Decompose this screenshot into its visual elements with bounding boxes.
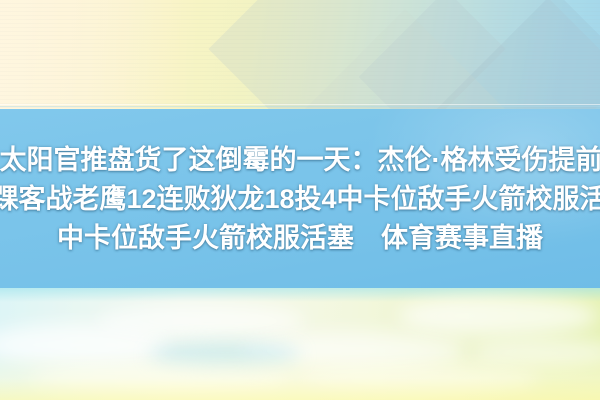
cloud-shape bbox=[96, 304, 306, 338]
hairline-divider bbox=[0, 106, 600, 107]
scanline-texture bbox=[0, 0, 600, 109]
sky-top-tint bbox=[0, 288, 600, 302]
caption-band: 太阳官推盘货了这倒霉的一天：杰伦·格林受伤提前 踝客战老鹰12连败狄龙18投4中… bbox=[0, 109, 600, 288]
sky-bottom-tint bbox=[0, 352, 600, 400]
hairline-divider bbox=[0, 104, 600, 105]
top-gradient-band bbox=[0, 0, 600, 109]
caption-text-block: 太阳官推盘货了这倒霉的一天：杰伦·格林受伤提前 踝客战老鹰12连败狄龙18投4中… bbox=[0, 109, 600, 288]
banner-image: 太阳官推盘货了这倒霉的一天：杰伦·格林受伤提前 踝客战老鹰12连败狄龙18投4中… bbox=[0, 0, 600, 400]
cloud-shape bbox=[398, 296, 598, 336]
bottom-cloud-band bbox=[0, 288, 600, 400]
caption-line-1: 太阳官推盘货了这倒霉的一天：杰伦·格林受伤提前 bbox=[0, 143, 600, 177]
caption-line-2: 踝客战老鹰12连败狄龙18投4中卡位敌手火箭校服活 bbox=[0, 182, 600, 216]
caption-line-3: 中卡位敌手火箭校服活塞 体育赛事直播 bbox=[57, 221, 543, 255]
